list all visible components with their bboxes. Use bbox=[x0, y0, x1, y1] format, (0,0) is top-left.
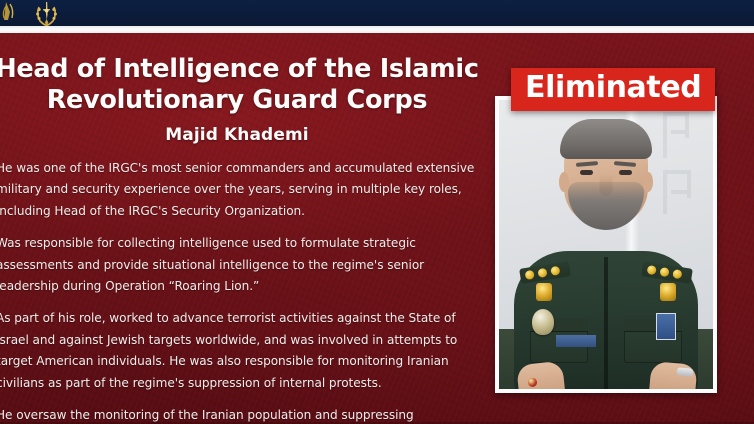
header-divider bbox=[0, 26, 754, 33]
idf-emblem-icon bbox=[0, 0, 78, 27]
ring bbox=[528, 377, 538, 387]
page-title-line-2: Revolutionary Guard Corps bbox=[0, 85, 480, 116]
status-badge-label: Eliminated bbox=[525, 71, 701, 105]
description-paragraph-2: Was responsible for collecting intellige… bbox=[0, 233, 476, 297]
header-bar bbox=[0, 0, 754, 26]
name-tag bbox=[556, 335, 596, 347]
portrait-image bbox=[499, 100, 713, 389]
subject-face bbox=[564, 122, 648, 226]
epaulette-left bbox=[519, 261, 571, 284]
subject-portrait bbox=[495, 96, 717, 393]
uniform-torso bbox=[514, 251, 698, 389]
status-badge: Eliminated bbox=[511, 68, 715, 111]
collar-insignia-right bbox=[660, 283, 676, 301]
wristwatch bbox=[677, 367, 694, 376]
wall-pattern-decoration bbox=[657, 108, 709, 248]
headline-block: Head of Intelligence of the Islamic Revo… bbox=[0, 54, 480, 146]
hair bbox=[560, 119, 652, 159]
hand-right bbox=[648, 361, 697, 389]
description-paragraph-1: He was one of the IRGC's most senior com… bbox=[0, 158, 476, 222]
poster-canvas: Head of Intelligence of the Islamic Revo… bbox=[0, 0, 754, 424]
page-title-line-1: Head of Intelligence of the Islamic bbox=[0, 54, 480, 85]
hand-left bbox=[516, 361, 566, 389]
description-block: He was one of the IRGC's most senior com… bbox=[0, 158, 476, 424]
unit-patch bbox=[656, 313, 676, 340]
collar-insignia-left bbox=[536, 283, 552, 301]
epaulette-right bbox=[641, 261, 693, 284]
subject-name: Majid Khademi bbox=[0, 125, 480, 146]
medal-badge bbox=[532, 309, 554, 335]
description-paragraph-3: As part of his role, worked to advance t… bbox=[0, 308, 476, 394]
